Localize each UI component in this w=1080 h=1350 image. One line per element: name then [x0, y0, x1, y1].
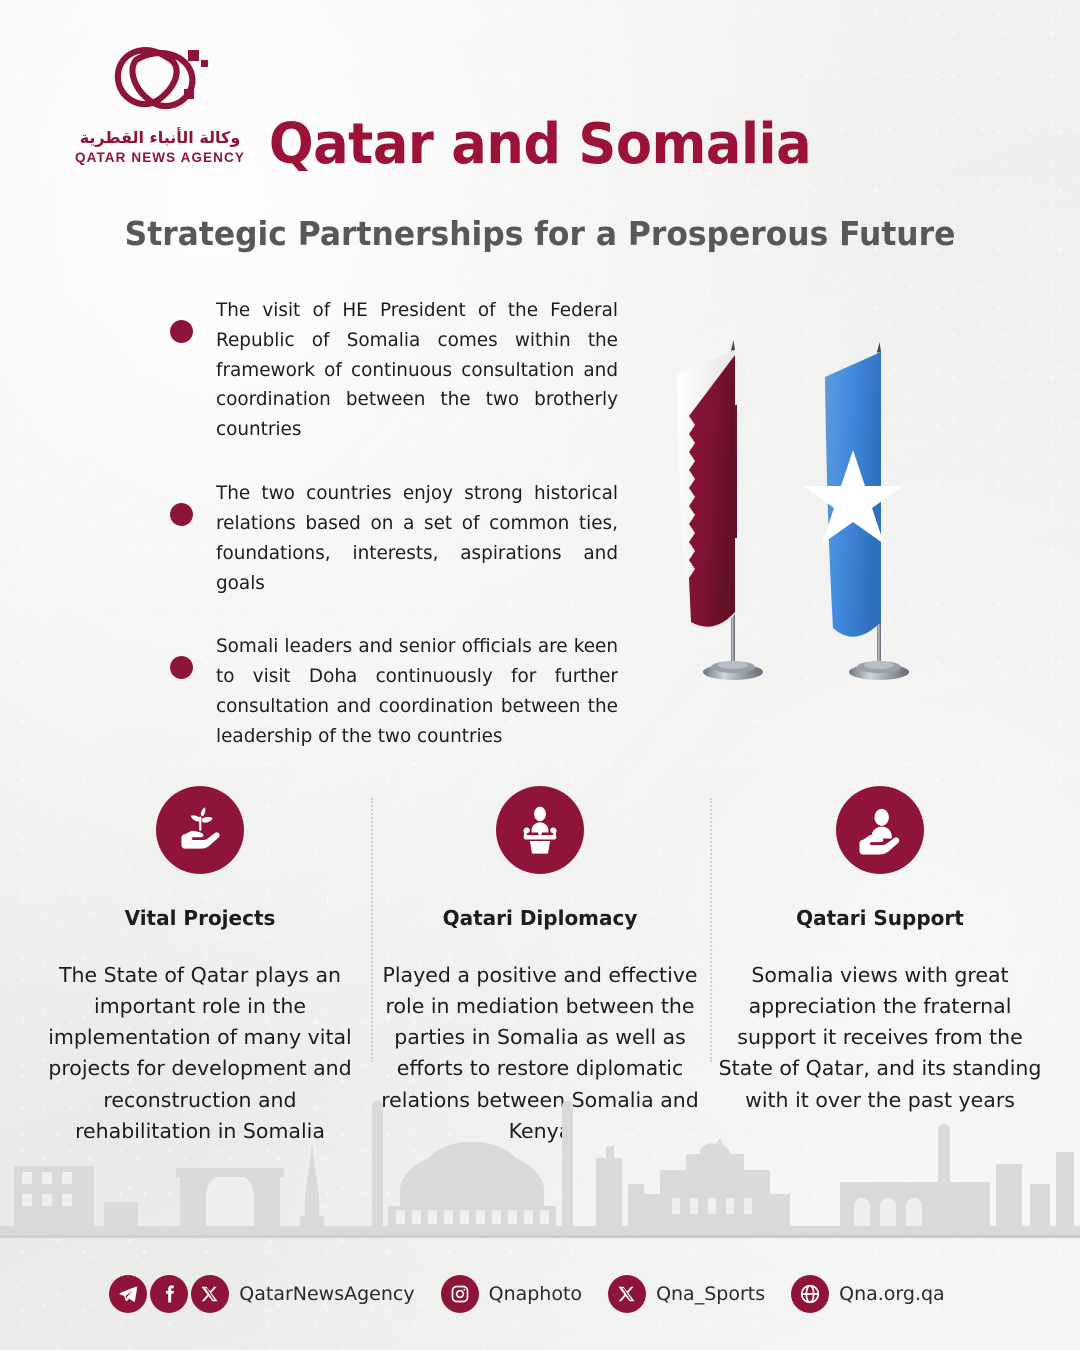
social-label: Qna.org.qa	[839, 1283, 945, 1305]
page-subtitle: Strategic Partnerships for a Prosperous …	[27, 214, 1053, 253]
hand-supporting-person-icon	[853, 803, 907, 857]
bullet-dot-icon	[170, 503, 193, 526]
card-icon-badge	[836, 786, 924, 874]
infographic-page: وكالة الأنباء القطرية QATAR NEWS AGENCY …	[0, 0, 1080, 1350]
bullet-text: The two countries enjoy strong historica…	[216, 479, 618, 598]
card-icon-badge	[496, 786, 584, 874]
bullet-list: The visit of HE President of the Federal…	[168, 296, 618, 786]
qatar-flag	[677, 340, 763, 680]
page-title: Qatar and Somalia	[32, 112, 1047, 177]
social-group-sports: Qna_Sports	[608, 1275, 791, 1313]
list-item: The visit of HE President of the Federal…	[168, 296, 618, 445]
telegram-icon[interactable]	[109, 1275, 147, 1313]
card-title: Qatari Diplomacy	[370, 906, 710, 930]
card-qatari-support: Qatari Support Somalia views with great …	[710, 786, 1050, 1116]
facebook-icon[interactable]	[150, 1275, 188, 1313]
bullet-text: Somali leaders and senior officials are …	[216, 632, 618, 751]
somalia-flag	[803, 342, 909, 680]
social-group-website: Qna.org.qa	[791, 1275, 971, 1313]
city-skyline-silhouette	[0, 1098, 1080, 1238]
x-twitter-icon[interactable]	[608, 1275, 646, 1313]
bullet-text: The visit of HE President of the Federal…	[216, 296, 618, 445]
list-item: Somali leaders and senior officials are …	[168, 632, 618, 751]
card-title: Qatari Support	[710, 906, 1050, 930]
card-body: Somalia views with great appreciation th…	[710, 960, 1050, 1116]
social-group-main: QatarNewsAgency	[109, 1275, 440, 1313]
card-title: Vital Projects	[30, 906, 370, 930]
card-vital-projects: Vital Projects The State of Qatar plays …	[30, 786, 370, 1147]
social-group-instagram: Qnaphoto	[441, 1275, 608, 1313]
two-flags-illustration	[655, 322, 1025, 700]
social-label: Qna_Sports	[656, 1283, 765, 1305]
hand-holding-plant-icon	[173, 803, 227, 857]
social-label: QatarNewsAgency	[239, 1283, 414, 1305]
x-twitter-icon[interactable]	[191, 1275, 229, 1313]
bullet-dot-icon	[170, 656, 193, 679]
bullet-dot-icon	[170, 320, 193, 343]
social-footer: QatarNewsAgency Qnaphoto Qna_Sports	[0, 1238, 1080, 1350]
list-item: The two countries enjoy strong historica…	[168, 479, 618, 598]
social-label: Qnaphoto	[489, 1283, 582, 1305]
globe-icon[interactable]	[791, 1275, 829, 1313]
instagram-icon[interactable]	[441, 1275, 479, 1313]
podium-speaker-icon	[513, 803, 567, 857]
card-icon-badge	[156, 786, 244, 874]
card-qatari-diplomacy: Qatari Diplomacy Played a positive and e…	[370, 786, 710, 1147]
